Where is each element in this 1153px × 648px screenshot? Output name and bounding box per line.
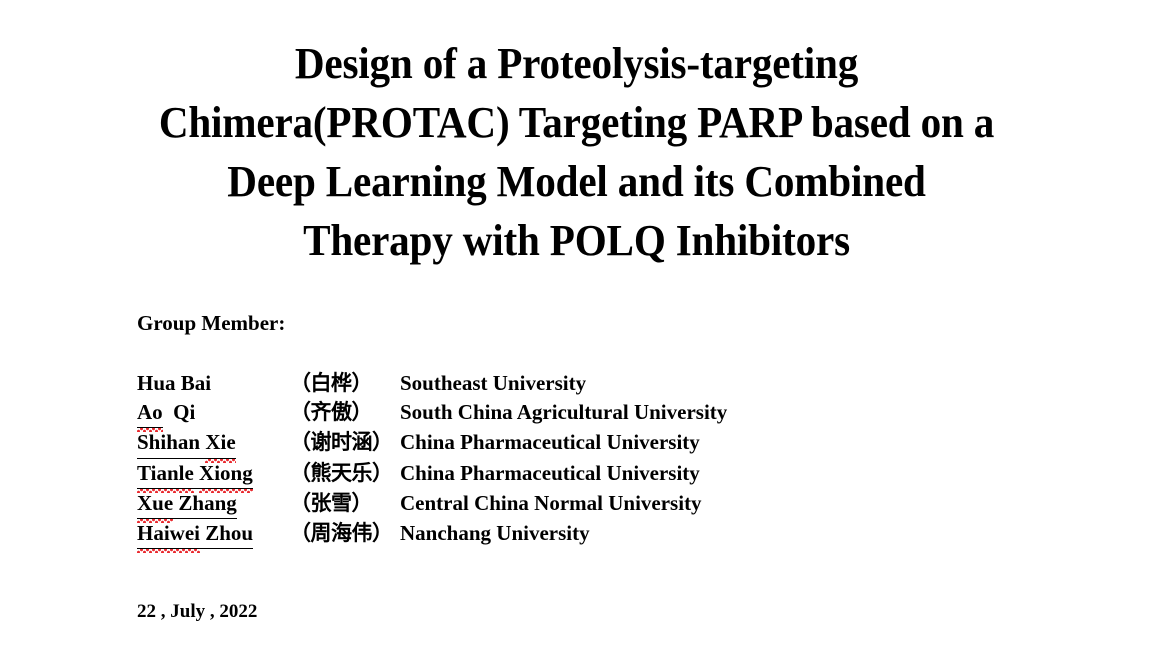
member-university: China Pharmaceutical University [400,430,700,454]
presentation-slide: Design of a Proteolysis-targeting Chimer… [0,0,1153,648]
member-name-cell: Ao Qi [137,398,290,428]
group-member-heading: Group Member: [137,311,285,336]
member-university-cell: South China Agricultural University [400,398,727,428]
slide-title: Design of a Proteolysis-targeting Chimer… [0,34,1153,270]
member-university: Central China Normal University [400,491,702,515]
title-line-3: Deep Learning Model and its Combined [37,152,1115,211]
member-name-token: Zhou [200,519,253,549]
member-university: South China Agricultural University [400,400,727,424]
member-name-token: Xie [205,428,235,458]
member-university-cell: Central China Normal University [400,489,727,519]
member-name-token: Shihan [137,428,205,458]
member-university-cell: Nanchang University [400,519,727,549]
member-name-cn: （张雪） [290,491,372,515]
member-name-token: Tianle [137,459,194,489]
member-name: Hua Bai [137,369,211,398]
table-row: Shihan Xie （谢时涵） China Pharmaceutical Un… [137,428,727,458]
member-name-cn-cell: （齐傲） [290,398,400,428]
member-name-cn: （谢时涵） [290,430,393,454]
table-row: Tianle Xiong （熊天乐） China Pharmaceutical … [137,459,727,489]
member-name-cell: Tianle Xiong [137,459,290,489]
member-name-token: Qi [163,398,196,427]
member-name-cn: （熊天乐） [290,461,393,485]
member-name-token: Zhang [173,489,237,519]
table-row: Haiwei Zhou （周海伟） Nanchang University [137,519,727,549]
member-name-token: Haiwei [137,519,200,549]
member-university-cell: Southeast University [400,369,727,398]
member-name-cn: （周海伟） [290,521,393,545]
member-name-cell: Hua Bai [137,369,290,398]
member-name-cn-cell: （周海伟） [290,519,400,549]
member-name-cn-cell: （熊天乐） [290,459,400,489]
member-name-cn: （白桦） [290,371,372,395]
title-line-1: Design of a Proteolysis-targeting [37,34,1115,93]
member-university-cell: China Pharmaceutical University [400,428,727,458]
title-line-4: Therapy with POLQ Inhibitors [37,211,1115,270]
member-university: Nanchang University [400,521,590,545]
table-row: Xue Zhang （张雪） Central China Normal Univ… [137,489,727,519]
member-name-token: Ao [137,398,163,428]
member-name-cn-cell: （谢时涵） [290,428,400,458]
member-university-cell: China Pharmaceutical University [400,459,727,489]
member-name-token: Xiong [199,459,253,489]
member-name-cn-cell: （白桦） [290,369,400,398]
member-name-cn: （齐傲） [290,400,372,424]
member-name-cell: Haiwei Zhou [137,519,290,549]
group-member-table: Hua Bai （白桦） Southeast University Ao Qi … [137,369,727,549]
title-line-2: Chimera(PROTAC) Targeting PARP based on … [37,93,1115,152]
member-name-cell: Shihan Xie [137,428,290,458]
member-name-token: Xue [137,489,173,519]
member-name-cn-cell: （张雪） [290,489,400,519]
member-university: Southeast University [400,371,586,395]
member-name-cell: Xue Zhang [137,489,290,519]
member-university: China Pharmaceutical University [400,461,700,485]
table-row: Ao Qi （齐傲） South China Agricultural Univ… [137,398,727,428]
table-row: Hua Bai （白桦） Southeast University [137,369,727,398]
slide-date: 22 , July , 2022 [137,600,257,624]
